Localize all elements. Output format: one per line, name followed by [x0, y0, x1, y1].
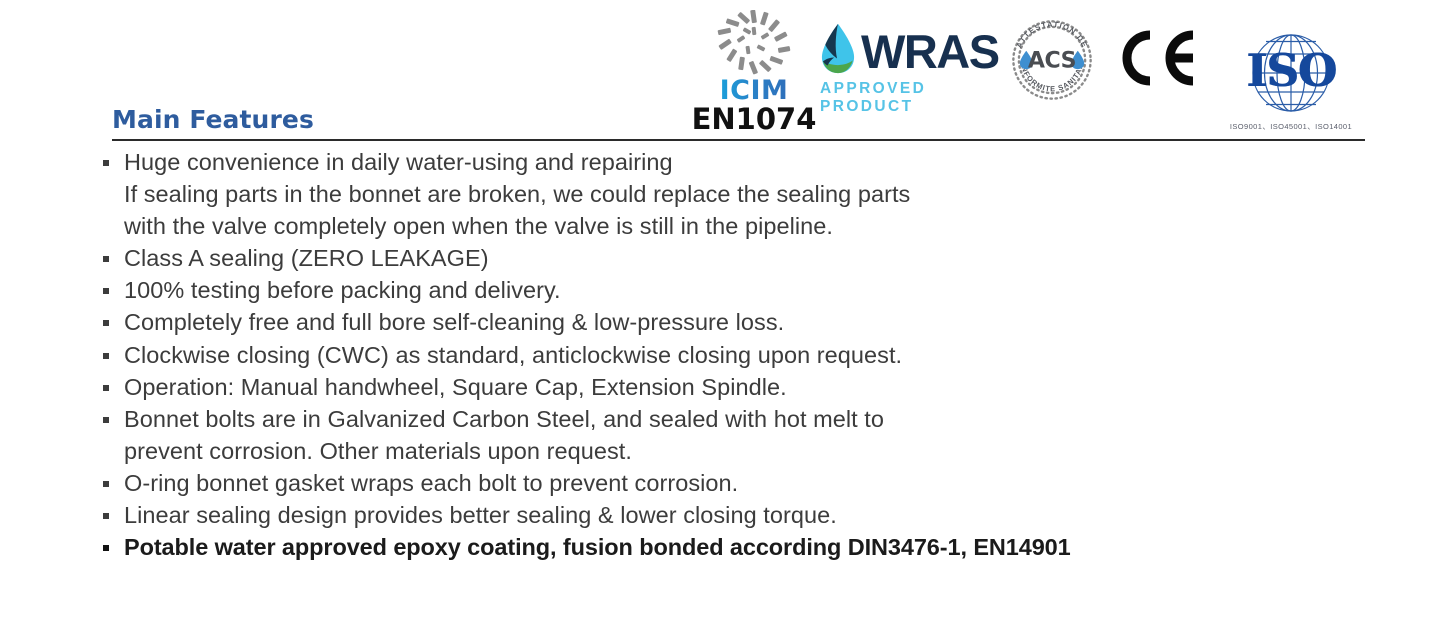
icim-wordmark: ICIM — [720, 77, 789, 104]
iso-standards-label: ISO9001、ISO45001、ISO14001 — [1230, 121, 1352, 132]
wras-wordmark: WRAS — [861, 28, 999, 75]
sunburst-icon — [711, 10, 797, 76]
iso-wordmark: ISO — [1233, 48, 1349, 93]
certification-logo-strip: ICIM EN1074 WRAS APPROVED PRODUCT — [690, 6, 1390, 134]
svg-text:ATTESTATION DE: ATTESTATION DE — [1014, 19, 1089, 49]
feature-item: Bonnet bolts are in Galvanized Carbon St… — [99, 403, 1399, 467]
feature-item: Clockwise closing (CWC) as standard, ant… — [99, 339, 1399, 371]
certification-logo-wras: WRAS APPROVED PRODUCT — [818, 12, 1000, 134]
certification-logo-icim: ICIM EN1074 — [690, 12, 818, 134]
ce-mark-icon — [1117, 29, 1203, 92]
certification-logo-iso: ISO ISO9001、ISO45001、ISO14001 — [1216, 12, 1366, 134]
certification-logo-acs: ATTESTATION DE CONFORMITE SANITAIRE ACS — [1000, 12, 1104, 134]
feature-item: O-ring bonnet gasket wraps each bolt to … — [99, 467, 1399, 499]
globe-icon: ISO — [1233, 26, 1349, 120]
title-divider — [112, 139, 1365, 141]
icim-standard-label: EN1074 — [692, 104, 817, 134]
feature-item: Operation: Manual handwheel, Square Cap,… — [99, 371, 1399, 403]
feature-item: 100% testing before packing and delivery… — [99, 274, 1399, 306]
feature-item: Linear sealing design provides better se… — [99, 499, 1399, 531]
feature-item: Completely free and full bore self-clean… — [99, 306, 1399, 338]
certification-logo-ce — [1104, 12, 1216, 134]
main-features-list: Huge convenience in daily water-using an… — [99, 146, 1399, 563]
water-droplet-icon — [818, 22, 858, 80]
svg-text:ACS: ACS — [1028, 48, 1076, 73]
droplet-seal-icon: ATTESTATION DE CONFORMITE SANITAIRE ACS — [1006, 14, 1098, 111]
feature-item: Class A sealing (ZERO LEAKAGE) — [99, 242, 1399, 274]
feature-item: Potable water approved epoxy coating, fu… — [99, 531, 1399, 563]
page-title: Main Features — [112, 106, 314, 134]
feature-item: Huge convenience in daily water-using an… — [99, 146, 1399, 242]
wras-subtitle: APPROVED PRODUCT — [820, 80, 1000, 116]
